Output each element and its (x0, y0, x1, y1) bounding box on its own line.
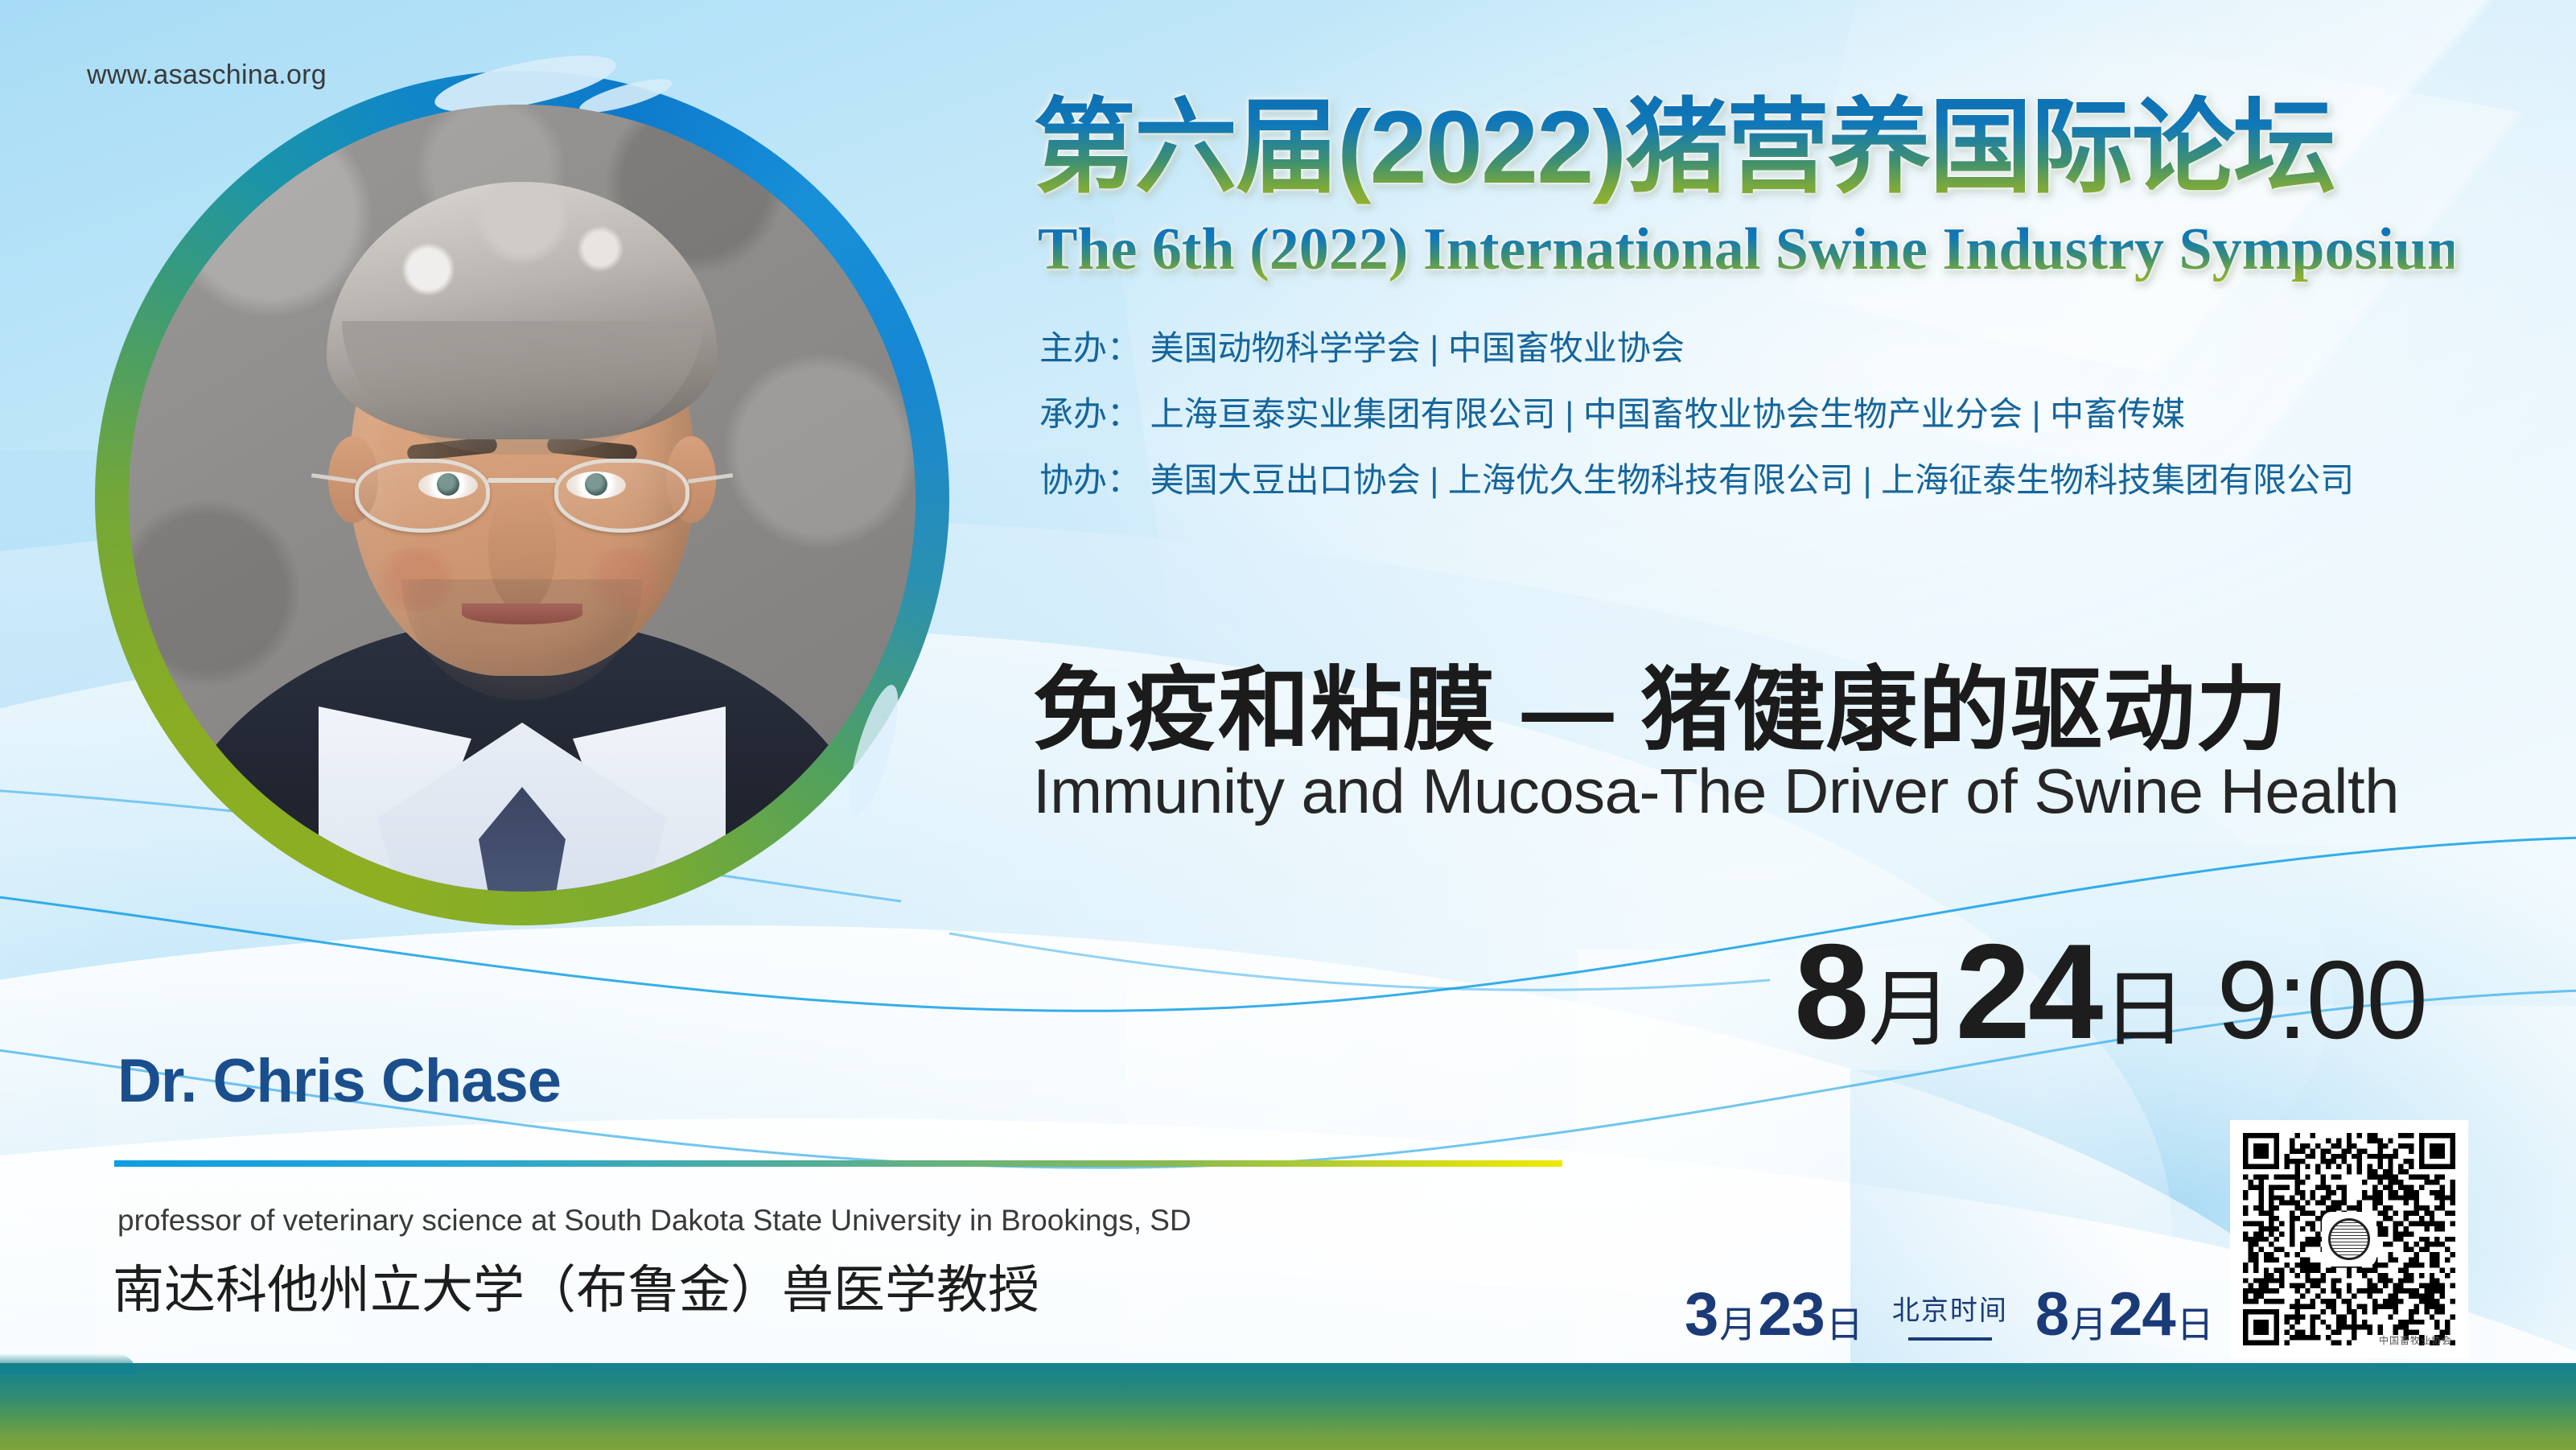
event-time: 9:00 (2216, 937, 2426, 1065)
speaker-portrait (95, 71, 949, 925)
timezone-group: 北京时间 (1892, 1288, 2008, 1341)
beijing-month-unit: 月 (2070, 1306, 2107, 1343)
photo-mouth (462, 603, 582, 624)
speaker-role-cn: 南达科他州立大学（布鲁金）兽医学教授 (113, 1249, 1039, 1323)
qr-code-icon[interactable]: 中国畜牧业协会 (2230, 1120, 2468, 1358)
speaker-role-en: professor of veterinary science at South… (117, 1204, 1191, 1238)
glasses-bridge (488, 478, 557, 483)
qr-caption: 中国畜牧业协会 (2379, 1333, 2452, 1347)
bottom-bar-notch (0, 1353, 137, 1374)
dual-timezone-dates: 3 月 23 日 北京时间 8 月 24 日 (1685, 1284, 2216, 1345)
timezone-label: 北京时间 (1892, 1288, 2008, 1328)
event-month-unit: 月 (1869, 941, 1953, 1062)
timezone-underline (1908, 1337, 1992, 1341)
organizer-line-host: 主办： 美国动物科学学会 | 中国畜牧业协会 (1039, 330, 1685, 367)
speaker-photo (129, 105, 916, 892)
local-month-number: 3 (1685, 1284, 1718, 1345)
topic-title-en: Immunity and Mucosa-The Driver of Swine … (1033, 755, 2465, 828)
beijing-month-number: 8 (2035, 1284, 2068, 1345)
organizer-line-coorganizer: 协办： 美国大豆出口协会 | 上海优久生物科技有限公司 | 上海征泰生物科技集团… (1039, 462, 2354, 499)
glasses-icon (355, 459, 689, 536)
event-month-number: 8 (1794, 914, 1866, 1069)
background-facet-4 (1126, 982, 1625, 1400)
event-title-cn: 第六届(2022)猪营养国际论坛 (1033, 90, 2449, 205)
local-day-unit: 日 (1826, 1306, 1863, 1343)
seal-ring (2328, 1218, 2370, 1260)
local-day-number: 23 (1758, 1284, 1825, 1345)
glasses-lens-right (554, 459, 689, 533)
glasses-lens-left (355, 459, 490, 533)
event-day-number: 24 (1956, 914, 2101, 1069)
local-month-unit: 月 (1719, 1306, 1756, 1343)
topic-title-cn: 免疫和粘膜 — 猪健康的驱动力 (1033, 636, 2465, 768)
seal-logo-icon (2322, 1212, 2376, 1267)
beijing-day-unit: 日 (2177, 1306, 2214, 1343)
speaker-name: Dr. Chris Chase (117, 1046, 561, 1116)
bottom-gradient-bar (0, 1363, 2576, 1450)
organizer-line-organizer: 承办： 上海亘泰实业集团有限公司 | 中国畜牧业协会生物产业分会 | 中畜传媒 (1039, 396, 2185, 433)
event-poster: www.asaschina.org (0, 0, 2576, 1450)
event-datetime-large: 8 月 24 日 9:00 (1794, 914, 2426, 1069)
event-title-en: The 6th (2022) International Swine Indus… (1038, 219, 2454, 282)
divider (114, 1160, 1562, 1167)
event-day-unit: 日 (2102, 941, 2186, 1062)
beijing-day-number: 24 (2109, 1284, 2175, 1345)
